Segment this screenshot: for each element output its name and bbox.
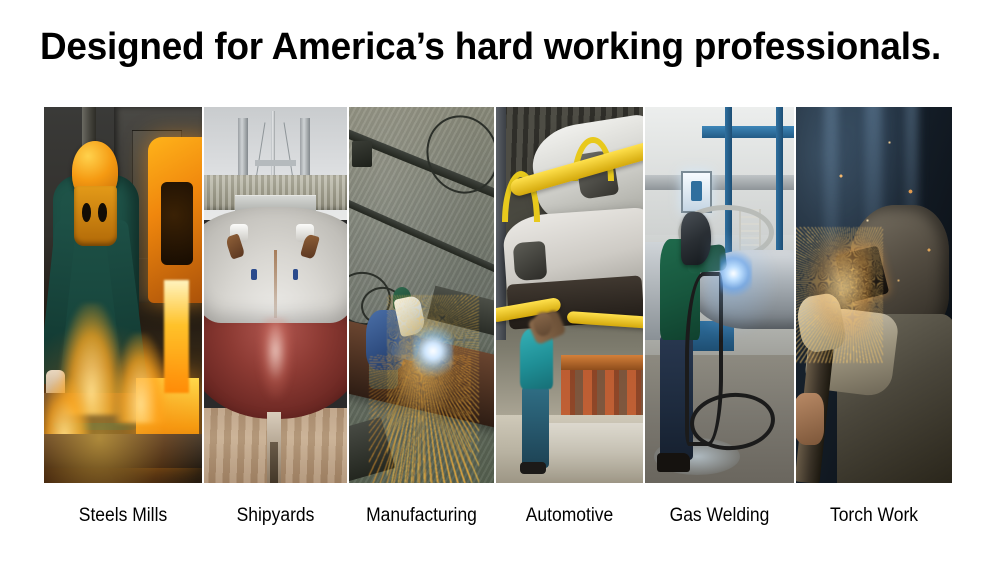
torch-work-spark-specks (796, 107, 952, 483)
gallery-captions: Steels Mills Shipyards Manufacturing Aut… (44, 498, 962, 534)
gallery-image-automotive[interactable] (496, 107, 643, 483)
assembly-line-left-rack (496, 107, 506, 340)
parts-rack-shelf (561, 355, 643, 370)
gallery-image-shipyards[interactable] (204, 107, 347, 483)
ship-hull-marking-left (251, 269, 257, 280)
automotive-worker-head (534, 312, 552, 336)
gallery-image-manufacturing[interactable] (349, 107, 494, 483)
caption-shipyards: Shipyards (210, 498, 342, 534)
gas-welding-arc-flame (720, 250, 753, 299)
caption-gas-welding: Gas Welding (651, 498, 788, 534)
automotive-worker-legs (522, 385, 548, 468)
foundry-heat-glow (44, 325, 202, 483)
workshop-horizontal-beam (645, 175, 794, 190)
ship-hull-rust-streak (274, 250, 277, 318)
slide-root: Designed for America’s hard working prof… (0, 0, 1008, 570)
caption-manufacturing: Manufacturing (355, 498, 488, 534)
caption-automotive: Automotive (502, 498, 637, 534)
automotive-worker-shoes (520, 462, 546, 473)
foundry-worker-face-shield (74, 186, 117, 246)
ship-mast-crossbar (255, 160, 295, 166)
gallery-image-torch-work[interactable] (796, 107, 952, 483)
page-title: Designed for America’s hard working prof… (40, 24, 952, 70)
drydock-support-stand (270, 442, 279, 483)
floor-fixture-block (352, 141, 372, 167)
gas-welder-boots (657, 453, 690, 472)
ship-hull-marking-right (293, 269, 299, 280)
gallery-image-gas-welding[interactable] (645, 107, 794, 483)
factory-floor-reflection (540, 423, 643, 483)
gallery-image-steels-mills[interactable] (44, 107, 202, 483)
ladle-opening (161, 182, 193, 265)
car-body-window-lower (512, 241, 547, 281)
manufacturing-arc-flash (413, 321, 454, 381)
face-shield-lens-right (98, 203, 107, 222)
ship-hull-highlight (258, 318, 292, 401)
caption-torch-work: Torch Work (802, 498, 946, 534)
image-gallery (44, 107, 962, 483)
caption-steels-mills: Steels Mills (50, 498, 195, 534)
